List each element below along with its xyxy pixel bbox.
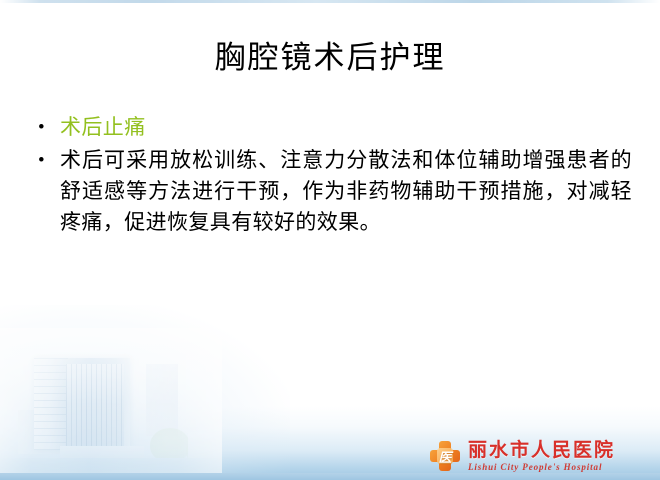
photo-fade-overlay: [0, 328, 222, 480]
bullet-item: • 术后止痛: [32, 112, 632, 143]
hospital-name-chinese: 丽水市人民医院: [468, 440, 618, 461]
presentation-slide: 胸腔镜术后护理 • 术后止痛 • 术后可采用放松训练、注意力分散法和体位辅助增强…: [0, 0, 660, 480]
hospital-name-english: Lishui City People's Hospital: [468, 461, 618, 473]
bullet-item: • 术后可采用放松训练、注意力分散法和体位辅助增强患者的舒适感等方法进行干预，作…: [32, 145, 632, 238]
bullet-marker-icon: •: [32, 145, 60, 176]
hospital-cross-emblem-icon: 医: [428, 439, 462, 473]
slide-body: • 术后止痛 • 术后可采用放松训练、注意力分散法和体位辅助增强患者的舒适感等方…: [32, 112, 632, 240]
bullet-marker-icon: •: [32, 112, 60, 143]
top-divider-rule: [0, 0, 660, 3]
hospital-logo-text: 丽水市人民医院 Lishui City People's Hospital: [468, 440, 618, 473]
slide-title: 胸腔镜术后护理: [0, 38, 660, 78]
bullet-text-paragraph: 术后可采用放松训练、注意力分散法和体位辅助增强患者的舒适感等方法进行干预，作为非…: [60, 145, 632, 238]
hospital-logo: 医 丽水市人民医院 Lishui City People's Hospital: [428, 436, 618, 476]
cross-glyph-character: 医: [428, 439, 462, 473]
bullet-text-heading: 术后止痛: [60, 112, 632, 143]
hospital-building-photo: [0, 328, 222, 480]
